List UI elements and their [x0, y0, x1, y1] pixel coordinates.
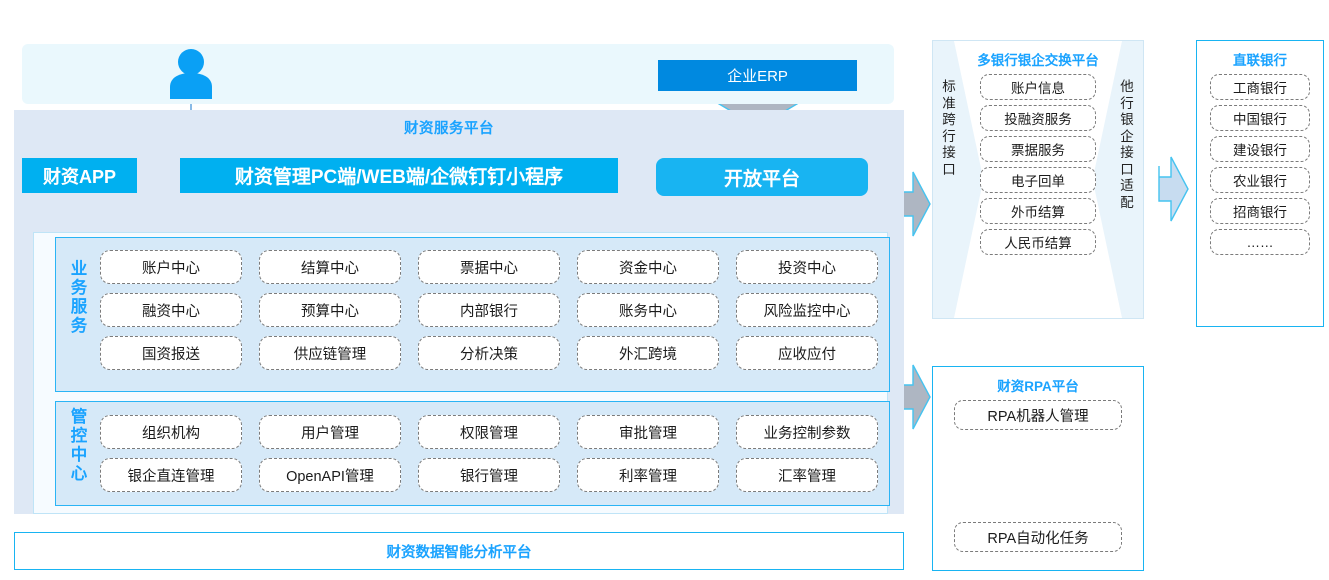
service-cell[interactable]: 国资报送 — [100, 336, 242, 370]
management-cell[interactable]: 权限管理 — [418, 415, 560, 449]
architecture-diagram: 企业ERP 财资服务平台 财资APP 财资管理PC端/WEB端/企微钉钉小程序 … — [0, 0, 1329, 580]
multi-bank-item[interactable]: 投融资服务 — [980, 105, 1096, 131]
rpa-items: RPA机器人管理 RPA自动化任务 — [933, 400, 1143, 552]
multi-bank-item[interactable]: 外币结算 — [980, 198, 1096, 224]
multi-bank-item[interactable]: 人民币结算 — [980, 229, 1096, 255]
multi-bank-exchange-platform: 多银行银企交换平台 标准跨行接口 他行银企接口适配 账户信息 投融资服务 票据服… — [932, 40, 1144, 319]
data-analysis-bar-label: 财资数据智能分析平台 — [387, 541, 532, 562]
data-analysis-bar[interactable]: 财资数据智能分析平台 — [14, 532, 904, 570]
service-cell[interactable]: 融资中心 — [100, 293, 242, 327]
multi-bank-title: 多银行银企交换平台 — [933, 41, 1143, 69]
direct-bank-item[interactable]: 建设银行 — [1210, 136, 1310, 162]
direct-bank-item[interactable]: 农业银行 — [1210, 167, 1310, 193]
platform-title: 财资服务平台 — [404, 117, 494, 138]
management-center-grid: 组织机构 用户管理 权限管理 审批管理 业务控制参数 银企直连管理 OpenAP… — [100, 415, 878, 492]
rpa-item[interactable]: RPA机器人管理 — [954, 400, 1122, 430]
service-cell[interactable]: 投资中心 — [736, 250, 878, 284]
service-cell[interactable]: 分析决策 — [418, 336, 560, 370]
direct-bank-item[interactable]: 工商银行 — [1210, 74, 1310, 100]
multi-bank-item[interactable]: 账户信息 — [980, 74, 1096, 100]
management-cell[interactable]: 银行管理 — [418, 458, 560, 492]
direct-bank-item[interactable]: 招商银行 — [1210, 198, 1310, 224]
rpa-title: 财资RPA平台 — [933, 367, 1143, 395]
management-cell[interactable]: OpenAPI管理 — [259, 458, 401, 492]
service-cell[interactable]: 外汇跨境 — [577, 336, 719, 370]
erp-box[interactable]: 企业ERP — [658, 60, 857, 91]
management-center-label: 管控中心 — [68, 408, 90, 484]
management-cell[interactable]: 组织机构 — [100, 415, 242, 449]
service-cell[interactable]: 预算中心 — [259, 293, 401, 327]
multi-bank-items: 账户信息 投融资服务 票据服务 电子回单 外币结算 人民币结算 — [933, 74, 1143, 255]
entry-open-platform[interactable]: 开放平台 — [656, 158, 868, 196]
management-cell[interactable]: 用户管理 — [259, 415, 401, 449]
service-cell[interactable]: 账务中心 — [577, 293, 719, 327]
direct-bank-item[interactable]: …… — [1210, 229, 1310, 255]
service-cell[interactable]: 账户中心 — [100, 250, 242, 284]
entry-app[interactable]: 财资APP — [22, 158, 137, 193]
service-cell[interactable]: 供应链管理 — [259, 336, 401, 370]
business-service-grid: 账户中心 结算中心 票据中心 资金中心 投资中心 融资中心 预算中心 内部银行 … — [100, 250, 878, 370]
service-cell[interactable]: 风险监控中心 — [736, 293, 878, 327]
direct-bank-panel: 直联银行 工商银行 中国银行 建设银行 农业银行 招商银行 …… — [1196, 40, 1324, 327]
service-cell[interactable]: 内部银行 — [418, 293, 560, 327]
multi-bank-item[interactable]: 电子回单 — [980, 167, 1096, 193]
management-cell[interactable]: 汇率管理 — [736, 458, 878, 492]
multi-bank-item[interactable]: 票据服务 — [980, 136, 1096, 162]
service-cell[interactable]: 应收应付 — [736, 336, 878, 370]
management-cell[interactable]: 业务控制参数 — [736, 415, 878, 449]
direct-bank-title: 直联银行 — [1197, 41, 1323, 69]
entry-pc-web[interactable]: 财资管理PC端/WEB端/企微钉钉小程序 — [180, 158, 618, 193]
service-cell[interactable]: 票据中心 — [418, 250, 560, 284]
service-cell[interactable]: 资金中心 — [577, 250, 719, 284]
direct-bank-items: 工商银行 中国银行 建设银行 农业银行 招商银行 …… — [1197, 74, 1323, 255]
rpa-platform-panel: 财资RPA平台 RPA机器人管理 RPA自动化任务 — [932, 366, 1144, 571]
user-person-icon — [168, 47, 214, 99]
management-cell[interactable]: 利率管理 — [577, 458, 719, 492]
rpa-item[interactable]: RPA自动化任务 — [954, 522, 1122, 552]
business-service-block: 业务服务 账户中心 结算中心 票据中心 资金中心 投资中心 融资中心 预算中心 … — [55, 237, 890, 392]
management-cell[interactable]: 银企直连管理 — [100, 458, 242, 492]
direct-bank-item[interactable]: 中国银行 — [1210, 105, 1310, 131]
business-service-label: 业务服务 — [68, 260, 90, 336]
management-center-block: 管控中心 组织机构 用户管理 权限管理 审批管理 业务控制参数 银企直连管理 O… — [55, 401, 890, 506]
management-cell[interactable]: 审批管理 — [577, 415, 719, 449]
service-cell[interactable]: 结算中心 — [259, 250, 401, 284]
